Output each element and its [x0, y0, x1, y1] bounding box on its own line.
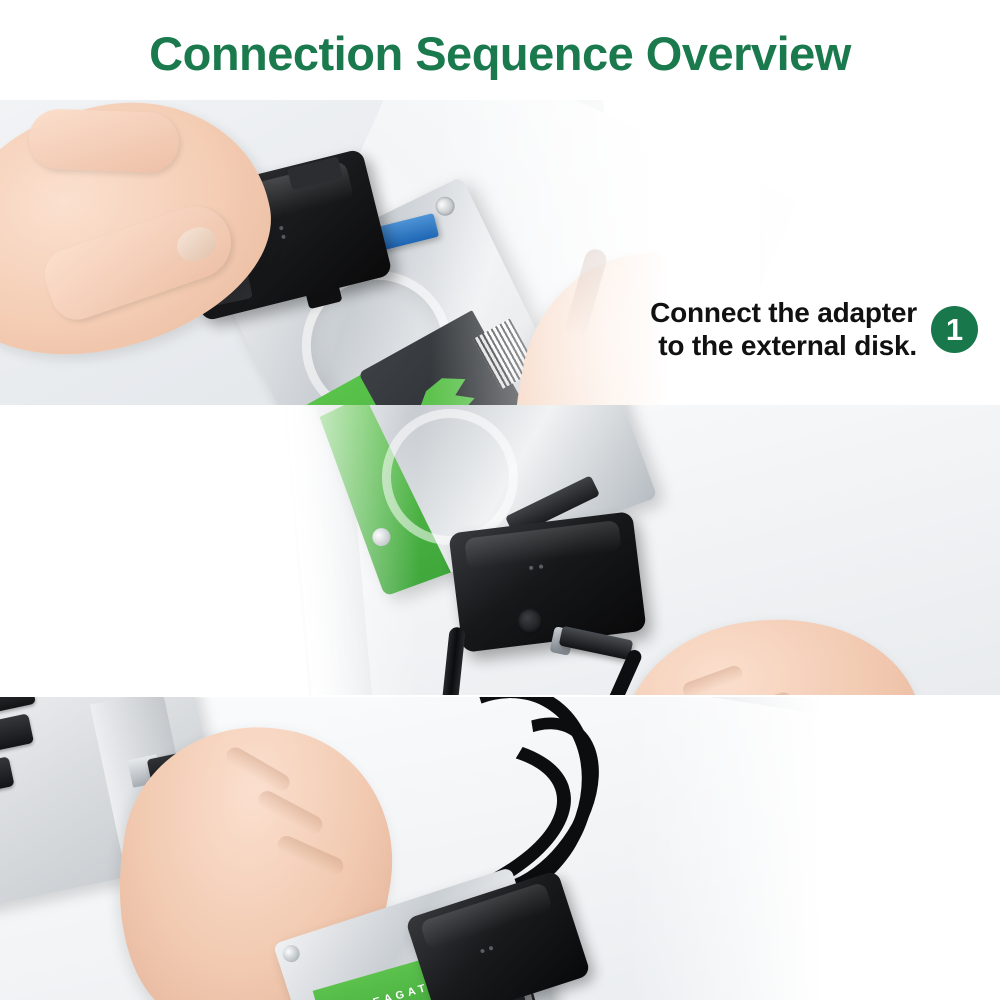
finger — [730, 691, 794, 695]
adapter-led-icon — [279, 226, 284, 231]
step-1-badge: 1 — [931, 306, 978, 353]
step-2-panel: 2 Connect to the power supply. Note: DC … — [0, 405, 1000, 695]
finger — [681, 664, 745, 695]
photo-fade-left — [0, 405, 420, 695]
keyboard-key — [0, 697, 36, 717]
adapter-led-icon — [529, 566, 533, 570]
usb-to-sata-adapter — [448, 511, 646, 653]
infographic-page: Connection Sequence Overview SEAGATE BAR… — [0, 0, 1000, 1000]
keyboard-key — [0, 713, 34, 755]
finger — [255, 788, 325, 837]
dc-power-jack — [517, 608, 543, 634]
step-2-photo — [0, 405, 1000, 695]
keyboard-key — [0, 756, 15, 794]
finger — [275, 833, 346, 878]
photo-fade-right — [630, 697, 1000, 1000]
page-title: Connection Sequence Overview — [0, 26, 1000, 81]
finger — [223, 744, 293, 795]
step-1-caption: Connect the adapter to the external disk… — [650, 296, 978, 362]
thumb — [38, 197, 241, 327]
hdd-screw — [281, 943, 302, 964]
adapter-led-icon — [480, 948, 485, 953]
step-3-panel: SEAGATE Plug in the USB porton PC/laptop… — [0, 697, 1000, 1000]
step-1-panel: SEAGATE BARRACUDA — [0, 100, 1000, 405]
step-3-photo: SEAGATE — [0, 697, 1000, 1000]
step-1-caption-text: Connect the adapter to the external disk… — [650, 296, 917, 362]
finger — [28, 108, 180, 173]
